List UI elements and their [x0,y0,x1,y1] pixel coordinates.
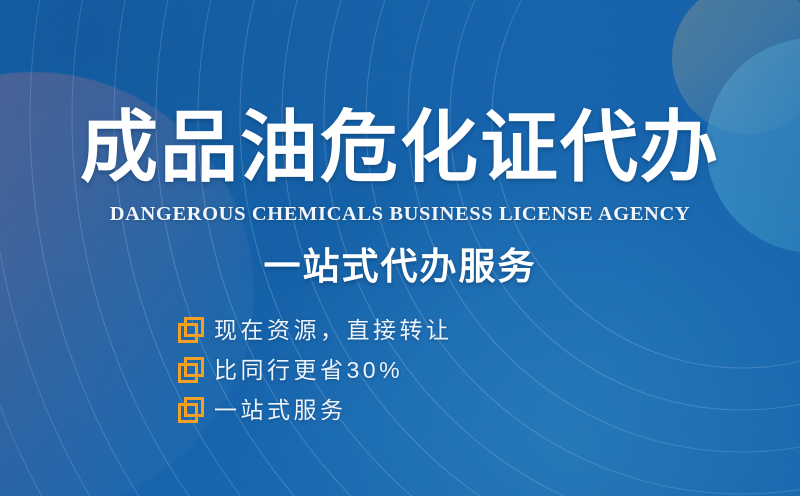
list-item: 现在资源，直接转让 [178,316,453,344]
banner-content: 成品油危化证代办 DANGEROUS CHEMICALS BUSINESS LI… [0,0,800,496]
feature-list: 现在资源，直接转让 比同行更省30% 一站式服务 [178,316,453,424]
overlapping-squares-icon [178,397,204,423]
page-title: 成品油危化证代办 [0,108,800,186]
english-subtitle: DANGEROUS CHEMICALS BUSINESS LICENSE AGE… [0,204,800,225]
chinese-subtitle: 一站式代办服务 [0,248,800,285]
feature-label: 现在资源，直接转让 [214,319,453,342]
feature-label: 比同行更省30% [214,359,403,382]
feature-label: 一站式服务 [214,399,347,422]
overlapping-squares-icon [178,317,204,343]
overlapping-squares-icon [178,357,204,383]
list-item: 比同行更省30% [178,356,453,384]
promotional-banner: 成品油危化证代办 DANGEROUS CHEMICALS BUSINESS LI… [0,0,800,496]
list-item: 一站式服务 [178,396,453,424]
